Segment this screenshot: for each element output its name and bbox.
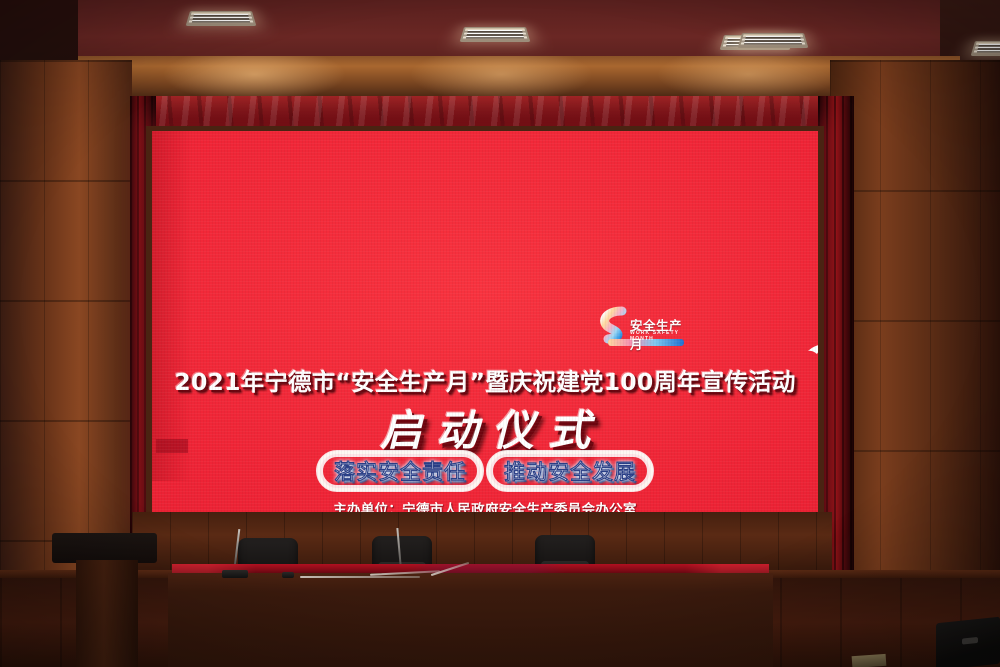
organizer-line-1: 主办单位：宁德市人民政府安全生产委员会办公室	[152, 501, 818, 512]
organizer-block: 主办单位：宁德市人民政府安全生产委员会办公室 福安市人民政府 承办单位：福安市人…	[152, 501, 818, 512]
flying-doves-icon	[808, 283, 818, 354]
slogan-2: 推动安全发展	[490, 454, 650, 488]
floor-monitor-speaker	[936, 617, 1000, 667]
screen-main-title: 启动仪式	[152, 397, 818, 458]
logo-label-en: WORK SAFETY MONTH	[630, 330, 688, 342]
recessed-ceiling-light-2	[460, 27, 531, 42]
conference-hall-scene: 安全生产月 WORK SAFETY MONTH	[0, 0, 1000, 667]
slogan-group: 落实安全责任 推动安全发展	[152, 454, 818, 488]
speaker-lectern-top	[52, 533, 157, 563]
head-table	[168, 573, 773, 667]
led-screen[interactable]: 安全生产月 WORK SAFETY MONTH	[152, 131, 818, 512]
floor-paper	[852, 654, 887, 667]
slogan-1: 落实安全责任	[320, 454, 480, 488]
work-safety-month-logo: 安全生产月 WORK SAFETY MONTH	[592, 303, 688, 357]
recessed-ceiling-light-4	[738, 33, 809, 48]
recessed-ceiling-light-1	[186, 11, 257, 26]
speaker-lectern-body	[76, 560, 138, 667]
table-cable-1	[300, 576, 420, 578]
name-plate	[282, 572, 294, 578]
microphone-base-1	[222, 570, 248, 578]
recessed-ceiling-light-5	[971, 41, 1000, 56]
screen-headline: 2021年宁德市“安全生产月”暨庆祝建党100周年宣传活动	[152, 363, 818, 397]
